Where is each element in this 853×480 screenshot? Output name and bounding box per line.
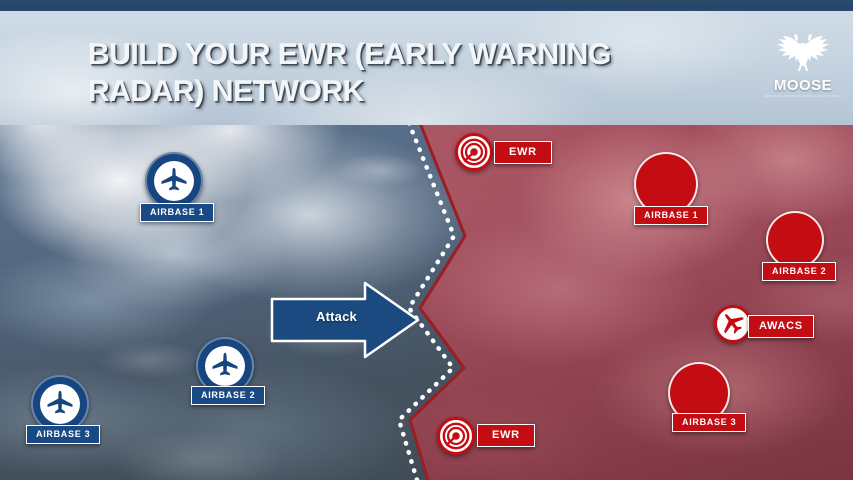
- blue-airbase-3-marker[interactable]: AIRBASE 3: [31, 375, 89, 433]
- red-airbase-3-marker[interactable]: AIRBASE 3: [668, 362, 730, 424]
- slide-canvas: BUILD YOUR EWR (EARLY WARNING RADAR) NET…: [0, 0, 853, 480]
- blue-airbase-2-marker[interactable]: AIRBASE 2: [196, 337, 254, 395]
- blue-airbase-disc[interactable]: [145, 152, 203, 210]
- blue-airbase-3-label: AIRBASE 3: [26, 425, 100, 444]
- red-airbase-2-label: AIRBASE 2: [762, 262, 836, 281]
- red-disc-icon[interactable]: [766, 211, 824, 269]
- blue-airbase-1-marker[interactable]: AIRBASE 1: [145, 152, 203, 210]
- red-airbase-1-marker[interactable]: AIRBASE 1: [634, 152, 698, 216]
- radar-icon[interactable]: [437, 417, 475, 455]
- attack-arrow[interactable]: Attack: [270, 281, 420, 359]
- red-airbase-1-label: AIRBASE 1: [634, 206, 708, 225]
- jet-aircraft-icon: [40, 384, 80, 424]
- header-band: BUILD YOUR EWR (EARLY WARNING RADAR) NET…: [0, 11, 853, 125]
- jet-aircraft-icon: [154, 161, 194, 201]
- ewr-radar-2-marker[interactable]: EWR: [437, 417, 475, 455]
- radar-icon[interactable]: [455, 133, 493, 171]
- top-accent-strip: [0, 0, 853, 11]
- ewr-radar-2-label: EWR: [477, 424, 535, 447]
- moose-antlers-icon: [772, 25, 834, 77]
- page-title: BUILD YOUR EWR (EARLY WARNING RADAR) NET…: [88, 37, 728, 110]
- ewr-radar-1-marker[interactable]: EWR: [455, 133, 493, 171]
- ewr-radar-1-label: EWR: [494, 141, 552, 164]
- jet-aircraft-icon: [205, 346, 245, 386]
- red-airbase-2-marker[interactable]: AIRBASE 2: [766, 211, 824, 269]
- awacs-marker[interactable]: AWACS: [714, 305, 752, 343]
- moose-wordmark: MOOSE: [765, 78, 841, 93]
- red-airbase-3-label: AIRBASE 3: [672, 413, 746, 432]
- awacs-aircraft-icon[interactable]: [714, 305, 752, 343]
- attack-label: Attack: [316, 309, 357, 324]
- moose-tagline: MISSION ORIENTED SIMPLE SCRIPTING ENVIRO…: [765, 95, 841, 99]
- awacs-label: AWACS: [748, 315, 814, 338]
- blue-airbase-2-label: AIRBASE 2: [191, 386, 265, 405]
- moose-logo: MOOSE MISSION ORIENTED SIMPLE SCRIPTING …: [765, 25, 841, 103]
- blue-airbase-1-label: AIRBASE 1: [140, 203, 214, 222]
